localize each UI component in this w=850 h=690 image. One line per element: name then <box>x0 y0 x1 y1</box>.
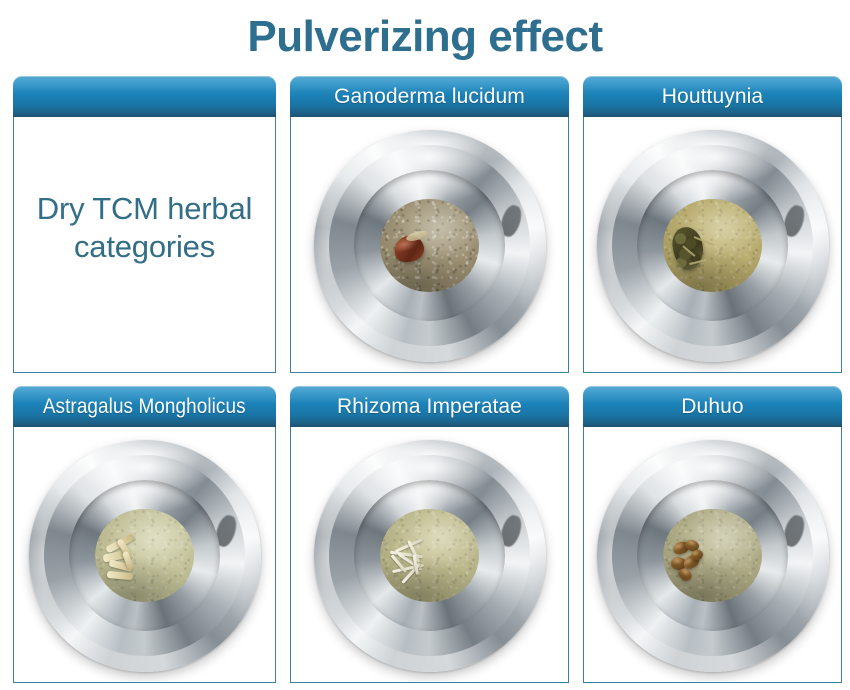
bowl-basin <box>637 170 788 321</box>
bowl-inner-rim <box>329 455 531 657</box>
bowl-outer-rim <box>597 130 829 362</box>
cell-header-label: Houttuynia <box>662 85 763 109</box>
cell-header-label: Ganoderma lucidum <box>334 85 525 109</box>
cell-header-ganoderma-lucidum: Ganoderma lucidum <box>290 76 569 117</box>
powder-astragalus-mongholicus <box>95 509 193 603</box>
powder-duhuo <box>663 509 761 603</box>
powder-houttuynia <box>663 199 761 293</box>
grid-cell-ganoderma-lucidum: Ganoderma lucidum <box>290 76 569 373</box>
cell-body-duhuo <box>583 427 842 683</box>
cell-body-rhizoma-imperatae <box>290 427 569 683</box>
powder-shading <box>663 509 761 603</box>
bowl-outer-rim <box>29 440 261 672</box>
sample-bowl-duhuo <box>597 440 829 672</box>
bowl-inner-rim <box>612 455 814 657</box>
sample-bowl-ganoderma-lucidum <box>314 130 546 362</box>
bowl-basin <box>637 480 788 631</box>
bowl-outer-rim <box>314 440 546 672</box>
bowl-outer-rim <box>314 130 546 362</box>
cell-body-ganoderma-lucidum <box>290 117 569 373</box>
cell-body-astragalus-mongholicus <box>13 427 276 683</box>
sample-bowl-houttuynia <box>597 130 829 362</box>
bowl-inner-rim <box>612 145 814 347</box>
bowl-outer-rim <box>597 440 829 672</box>
grid-cell-intro: Dry TCM herbal categories <box>13 76 276 373</box>
grid-cell-astragalus-mongholicus: Astragalus Mongholicus <box>13 386 276 683</box>
grid-cell-rhizoma-imperatae: Rhizoma Imperatae <box>290 386 569 683</box>
cell-header-duhuo: Duhuo <box>583 386 842 427</box>
cell-body-houttuynia <box>583 117 842 373</box>
cell-body-intro: Dry TCM herbal categories <box>13 117 276 373</box>
cell-header-rhizoma-imperatae: Rhizoma Imperatae <box>290 386 569 427</box>
bowl-inner-rim <box>44 455 246 657</box>
cell-header-houttuynia: Houttuynia <box>583 76 842 117</box>
cell-header-astragalus-mongholicus: Astragalus Mongholicus <box>13 386 276 427</box>
cell-header-label: Astragalus Mongholicus <box>43 394 246 419</box>
sample-bowl-astragalus-mongholicus <box>29 440 261 672</box>
cell-header-intro <box>13 76 276 117</box>
sample-bowl-rhizoma-imperatae <box>314 440 546 672</box>
page-title: Pulverizing effect <box>0 8 850 66</box>
powder-shading <box>380 509 478 603</box>
bowl-basin <box>69 480 220 631</box>
grid-cell-houttuynia: Houttuynia <box>583 76 842 373</box>
bowl-basin <box>354 170 505 321</box>
powder-rhizoma-imperatae <box>380 509 478 603</box>
grid-cell-duhuo: Duhuo <box>583 386 842 683</box>
cell-header-label: Duhuo <box>681 395 743 419</box>
cell-header-label: Rhizoma Imperatae <box>337 395 522 419</box>
sample-grid: Dry TCM herbal categories Ganoderma luci… <box>13 76 828 683</box>
intro-text: Dry TCM herbal categories <box>14 190 275 300</box>
powder-ganoderma-lucidum <box>380 199 478 293</box>
bowl-basin <box>354 480 505 631</box>
bowl-inner-rim <box>329 145 531 347</box>
